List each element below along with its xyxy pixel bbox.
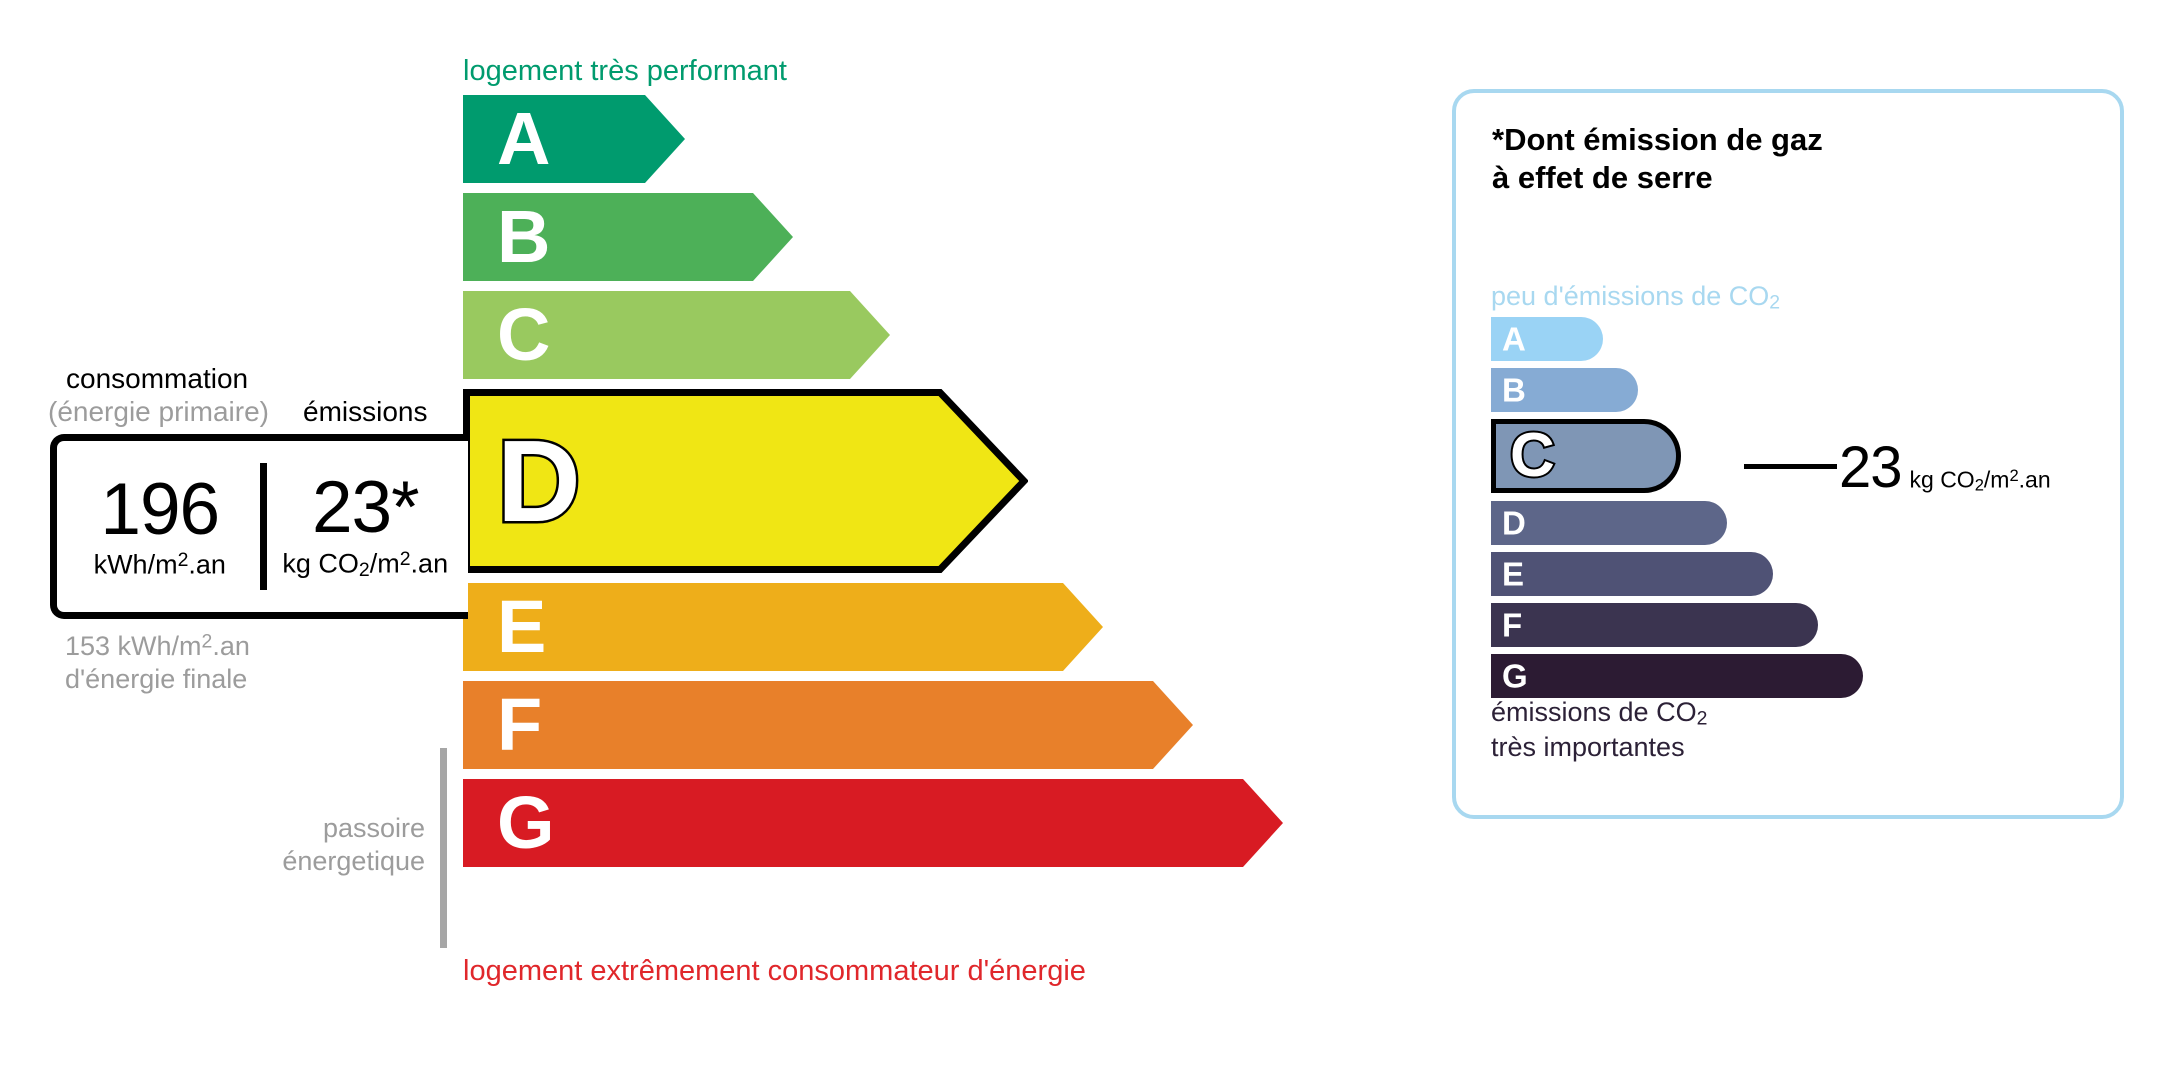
ges-bar-letter-a: A	[1502, 323, 1526, 356]
energy-band-c[interactable]: C	[463, 291, 890, 379]
band-arrow-shape-f	[463, 681, 1193, 769]
ges-bar-letter-c: C	[1510, 425, 1555, 487]
ges-bar-c-selected[interactable]: C	[1491, 419, 1681, 493]
energy-top-caption: logement très performant	[463, 55, 787, 88]
band-arrow-shape-g	[463, 779, 1283, 867]
energy-band-f[interactable]: F	[463, 681, 1193, 769]
energy-band-letter-f: F	[497, 688, 542, 762]
emissions-unit: kg CO2/m2.an	[282, 548, 448, 582]
ges-bar-a[interactable]: A	[1491, 317, 1603, 361]
ges-value-unit: kg CO2/m2.an	[1910, 466, 2051, 495]
ges-bottom-caption: émissions de CO2 très importantes	[1491, 696, 1707, 764]
energy-band-letter-a: A	[497, 102, 550, 176]
final-energy-note: 153 kWh/m2.an d'énergie finale	[65, 630, 250, 696]
consommation-value: 196	[100, 473, 219, 547]
ges-value-callout: 23 kg CO2/m2.an	[1839, 434, 2051, 501]
ges-bar-letter-f: F	[1502, 609, 1522, 642]
energy-bottom-caption: logement extrêmement consommateur d'éner…	[463, 955, 1086, 988]
energy-band-letter-g: G	[497, 786, 555, 860]
energy-band-e[interactable]: E	[463, 583, 1103, 671]
ges-bar-letter-g: G	[1502, 660, 1528, 693]
emissions-label: émissions	[303, 396, 427, 428]
ges-bar-g[interactable]: G	[1491, 654, 1863, 698]
passoire-marker-bar	[440, 748, 447, 948]
emissions-value: 23*	[312, 471, 419, 545]
consommation-unit: kWh/m2.an	[94, 549, 226, 580]
passoire-energetique-label: passoire énergetique	[200, 812, 425, 878]
energy-band-b[interactable]: B	[463, 193, 793, 281]
energy-band-letter-e: E	[497, 590, 546, 664]
ges-bar-list: A B C D E F G 23 kg CO2/m2.an	[1491, 317, 2091, 697]
energy-band-d-selected[interactable]: D	[463, 389, 1028, 573]
band-arrow-shape-e	[463, 583, 1103, 671]
energy-band-letter-b: B	[497, 200, 550, 274]
ges-top-caption: peu d'émissions de CO2	[1491, 281, 1780, 314]
ges-bar-letter-b: B	[1502, 374, 1526, 407]
consommation-value-cell: 196 kWh/m2.an	[57, 441, 263, 612]
final-energy-line2: d'énergie finale	[65, 664, 247, 694]
ges-leader-line	[1744, 464, 1837, 469]
greenhouse-gas-panel: *Dont émission de gaz à effet de serre p…	[1452, 89, 2124, 819]
energy-band-letter-c: C	[497, 298, 550, 372]
emissions-value-cell: 23* kg CO2/m2.an	[263, 441, 469, 612]
value-readout-box: 196 kWh/m2.an 23* kg CO2/m2.an	[50, 434, 468, 619]
energy-band-letter-d: D	[497, 423, 581, 539]
ges-bar-b[interactable]: B	[1491, 368, 1638, 412]
energie-primaire-label: (énergie primaire)	[48, 396, 269, 428]
energy-performance-panel: logement très performant A B C	[0, 0, 1400, 1079]
ges-bar-letter-e: E	[1502, 558, 1524, 591]
energy-band-g[interactable]: G	[463, 779, 1283, 867]
ges-bar-f[interactable]: F	[1491, 603, 1818, 647]
energy-band-list: A B C D E	[463, 95, 1263, 955]
consommation-label: consommation	[66, 363, 248, 395]
ges-bar-letter-d: D	[1502, 507, 1526, 540]
ges-panel-title: *Dont émission de gaz à effet de serre	[1492, 121, 1823, 197]
ges-bar-e[interactable]: E	[1491, 552, 1773, 596]
energy-band-a[interactable]: A	[463, 95, 685, 183]
ges-value-number: 23	[1839, 434, 1902, 501]
ges-bar-d[interactable]: D	[1491, 501, 1727, 545]
